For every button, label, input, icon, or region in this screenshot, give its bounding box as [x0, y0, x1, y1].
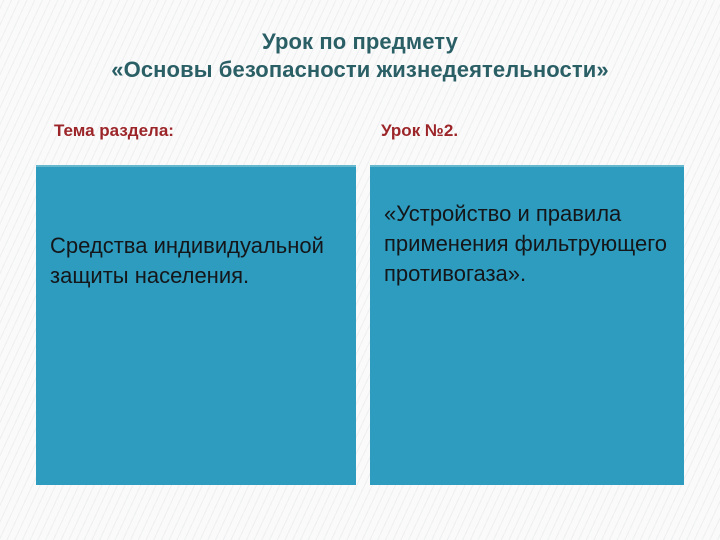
panel-section-topic: Средства индивидуальной защиты населения…: [36, 165, 356, 485]
title-line-1: Урок по предмету: [0, 28, 720, 56]
panel-section-topic-text: Средства индивидуальной защиты населения…: [50, 231, 346, 291]
label-section-topic: Тема раздела:: [54, 119, 174, 143]
label-lesson-number: Урок №2.: [381, 119, 458, 143]
panel-lesson-topic: «Устройство и правила применения фильтру…: [370, 165, 684, 485]
section-labels-row: Тема раздела: Урок №2.: [0, 119, 720, 149]
title-line-2: «Основы безопасности жизнедеятельности»: [0, 56, 720, 84]
page-title: Урок по предмету «Основы безопасности жи…: [0, 28, 720, 84]
panel-lesson-topic-text: «Устройство и правила применения фильтру…: [384, 199, 674, 289]
slide-canvas: Урок по предмету «Основы безопасности жи…: [0, 0, 720, 540]
